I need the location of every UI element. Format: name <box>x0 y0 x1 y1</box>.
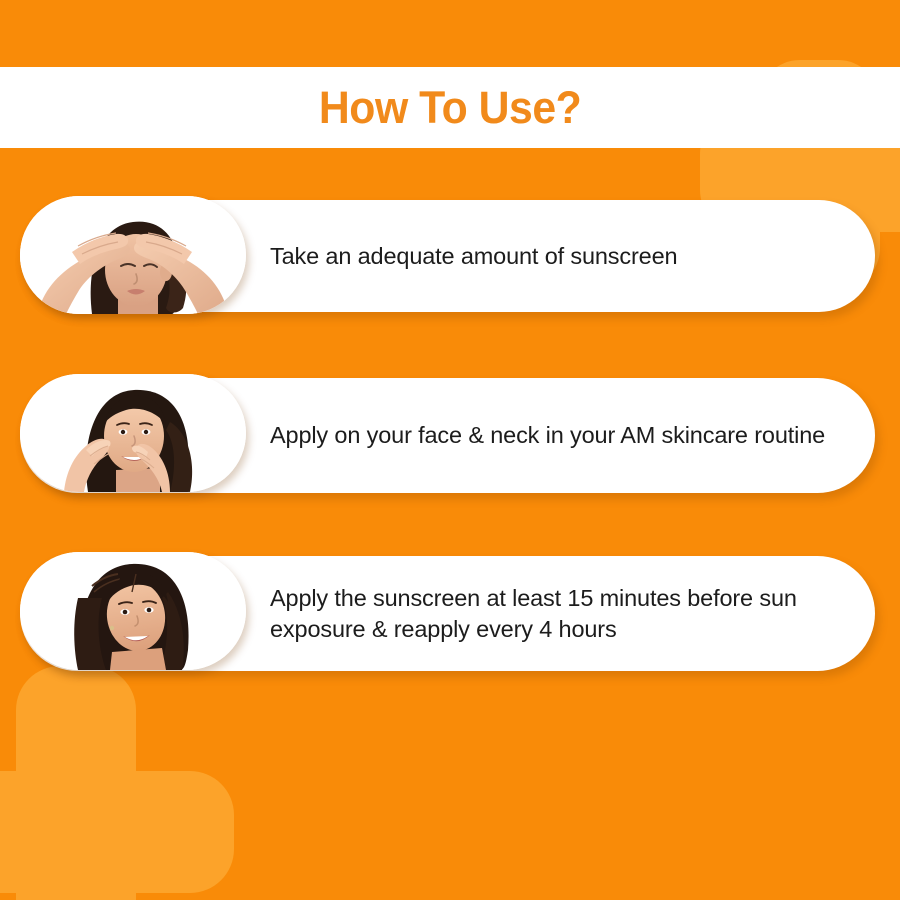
step-image-2 <box>20 374 246 492</box>
smiling-woman-with-long-hair-image <box>20 552 246 670</box>
woman-applying-sunscreen-to-forehead-image <box>20 196 246 314</box>
woman-applying-cream-to-cheeks-image <box>20 374 246 492</box>
page-title: How To Use? <box>319 82 581 134</box>
step-image-1 <box>20 196 246 314</box>
step-image-3 <box>20 552 246 670</box>
poster-canvas: How To Use? Take an adequate amount of s… <box>0 0 900 900</box>
header-band: How To Use? <box>0 67 900 148</box>
